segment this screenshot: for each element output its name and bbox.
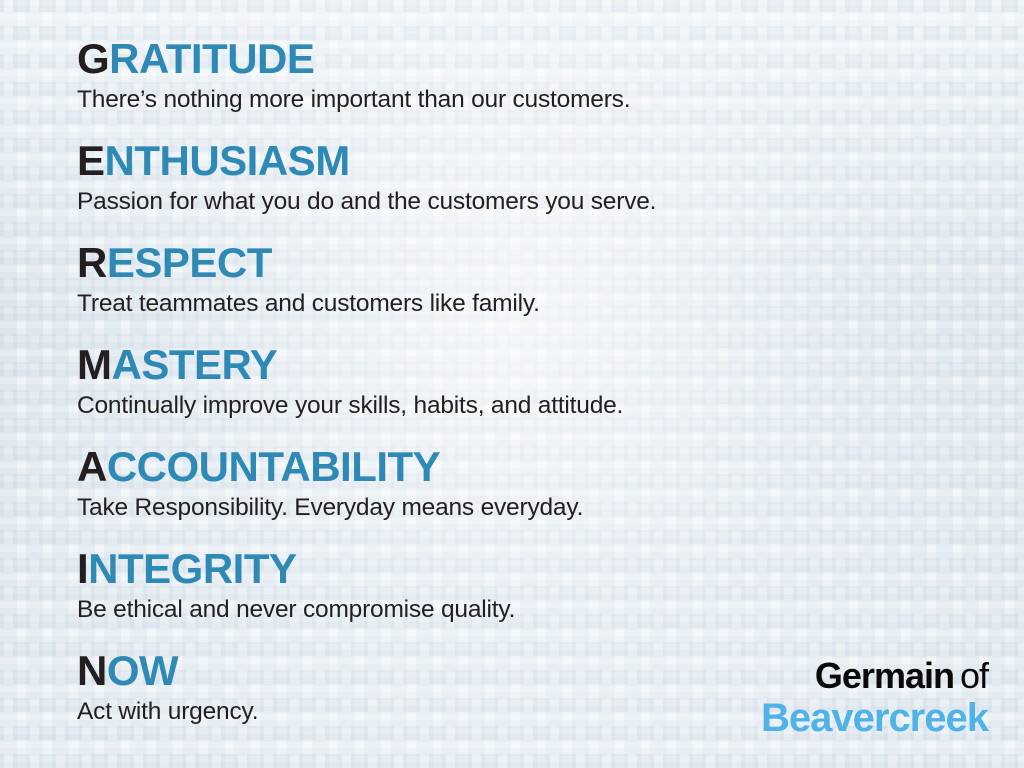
- value-initial-letter: I: [77, 545, 88, 592]
- value-description-mastery: Continually improve your skills, habits,…: [77, 391, 977, 421]
- value-heading-accountability: ACCOUNTABILITY: [77, 444, 977, 490]
- value-item-integrity: INTEGRITY Be ethical and never compromis…: [77, 546, 977, 625]
- value-initial-letter: A: [77, 443, 107, 490]
- value-description-respect: Treat teammates and customers like famil…: [77, 289, 977, 319]
- value-description-gratitude: There’s nothing more important than our …: [77, 85, 977, 115]
- value-description-enthusiasm: Passion for what you do and the customer…: [77, 187, 977, 217]
- value-initial-letter: M: [77, 341, 112, 388]
- value-remainder-text: ASTERY: [112, 341, 278, 388]
- value-heading-respect: RESPECT: [77, 240, 977, 286]
- value-item-mastery: MASTERY Continually improve your skills,…: [77, 342, 977, 421]
- value-heading-enthusiasm: ENTHUSIASM: [77, 138, 977, 184]
- value-item-accountability: ACCOUNTABILITY Take Responsibility. Ever…: [77, 444, 977, 523]
- value-heading-gratitude: GRATITUDE: [77, 36, 977, 82]
- value-remainder-text: RATITUDE: [109, 35, 314, 82]
- value-description-accountability: Take Responsibility. Everyday means ever…: [77, 493, 977, 523]
- logo-brand-name: Germain: [815, 655, 954, 696]
- value-initial-letter: N: [77, 647, 107, 694]
- value-item-enthusiasm: ENTHUSIASM Passion for what you do and t…: [77, 138, 977, 217]
- logo-location-name: Beavercreek: [761, 696, 988, 740]
- value-remainder-text: ESPECT: [107, 239, 272, 286]
- value-item-gratitude: GRATITUDE There’s nothing more important…: [77, 36, 977, 115]
- logo-connector-word: of: [960, 655, 988, 696]
- value-initial-letter: E: [77, 137, 105, 184]
- value-heading-integrity: INTEGRITY: [77, 546, 977, 592]
- value-description-integrity: Be ethical and never compromise quality.: [77, 595, 977, 625]
- values-list: GRATITUDE There’s nothing more important…: [77, 36, 977, 727]
- logo-primary-line: Germainof: [761, 656, 988, 696]
- value-item-respect: RESPECT Treat teammates and customers li…: [77, 240, 977, 319]
- value-remainder-text: CCOUNTABILITY: [107, 443, 440, 490]
- values-poster: GRATITUDE There’s nothing more important…: [0, 0, 1024, 768]
- dealership-logo: Germainof Beavercreek: [761, 656, 988, 740]
- value-remainder-text: NTHUSIASM: [105, 137, 350, 184]
- value-initial-letter: R: [77, 239, 107, 286]
- value-heading-mastery: MASTERY: [77, 342, 977, 388]
- value-initial-letter: G: [77, 35, 109, 82]
- value-remainder-text: NTEGRITY: [88, 545, 296, 592]
- value-remainder-text: OW: [107, 647, 178, 694]
